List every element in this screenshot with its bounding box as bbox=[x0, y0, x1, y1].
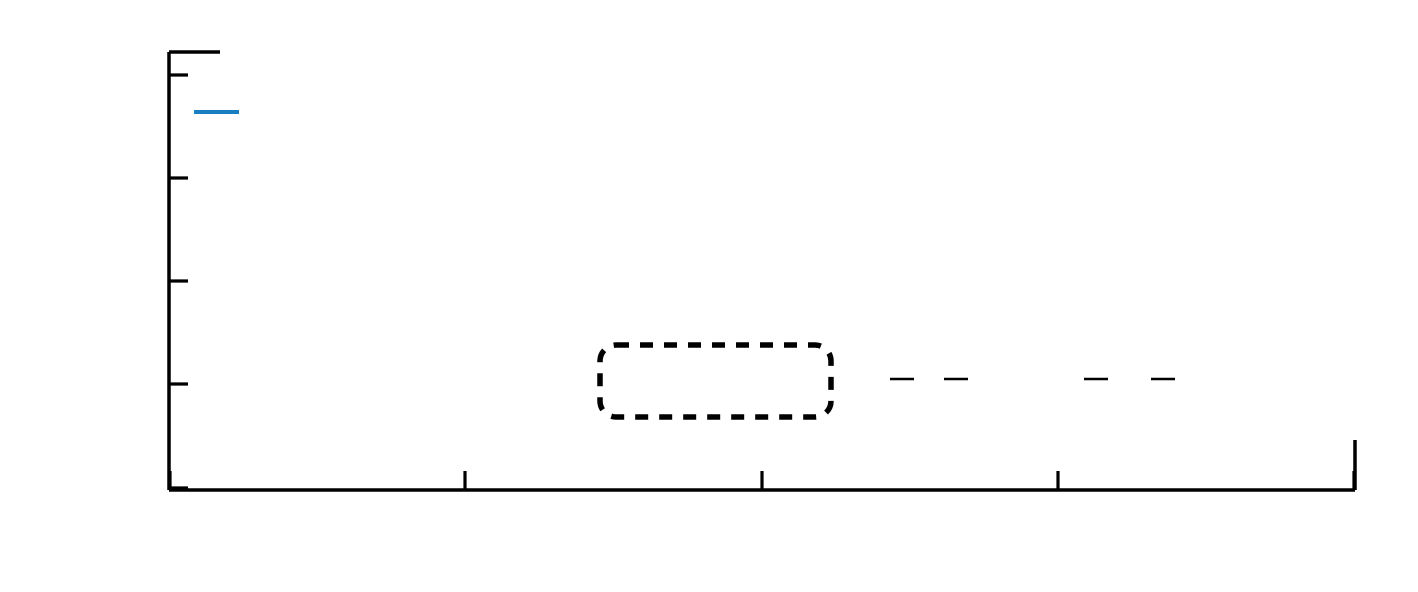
figure-root bbox=[0, 0, 1418, 592]
initialize-box-border bbox=[600, 345, 831, 417]
y-axis-ticks bbox=[169, 75, 188, 488]
x-axis-ticks bbox=[170, 471, 1354, 490]
inset-initialize-box bbox=[600, 345, 831, 417]
chart-svg bbox=[0, 0, 1418, 592]
axes-spines bbox=[169, 52, 1355, 490]
